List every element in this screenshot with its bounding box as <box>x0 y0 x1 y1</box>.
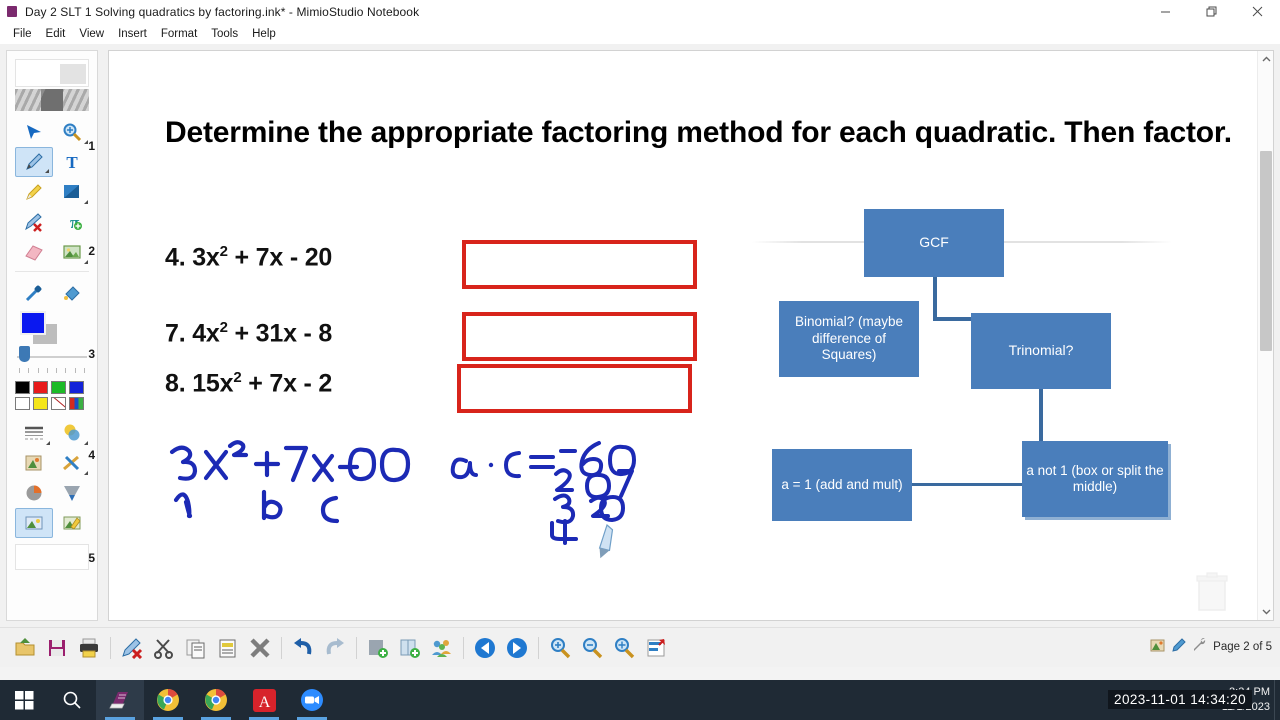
swatch-red[interactable] <box>33 381 48 394</box>
flowchart-node-a-equals-1[interactable]: a = 1 (add and mult) <box>772 449 912 521</box>
redo-arrow-icon[interactable] <box>320 632 350 664</box>
flow-line-gcf-down <box>933 277 937 319</box>
scroll-down-icon[interactable] <box>1258 603 1274 620</box>
annotate-image-tool[interactable] <box>53 508 91 538</box>
work-area: T <box>0 44 1280 627</box>
problem-8: 8. 15x2 + 7x - 2 <box>165 369 332 398</box>
paste-icon[interactable] <box>213 632 243 664</box>
scissors-icon[interactable] <box>149 632 179 664</box>
stroke-style-preview <box>15 89 89 111</box>
show-desktop-button[interactable] <box>1274 680 1280 720</box>
text-tool[interactable]: T <box>53 147 91 177</box>
pen-status-icon <box>1171 638 1186 656</box>
swatch-more-colors[interactable] <box>69 397 84 410</box>
swatch-green[interactable] <box>51 381 66 394</box>
color-palette <box>15 381 89 410</box>
window-title: Day 2 SLT 1 Solving quadratics by factor… <box>25 5 419 19</box>
bottom-toolbar <box>0 627 1280 667</box>
tool-annotation-2: 2 <box>88 244 95 258</box>
page-heading: Determine the appropriate factoring meth… <box>165 109 1235 156</box>
problem-8-number: 8. <box>165 369 185 397</box>
tool-grid: T <box>15 117 91 267</box>
notebook-icon <box>7 6 17 17</box>
flowchart-node-trinomial[interactable]: Trinomial? <box>971 313 1111 389</box>
menu-help[interactable]: Help <box>245 26 283 42</box>
shape-tool[interactable] <box>53 177 91 207</box>
page-indicator: Page 2 of 5 <box>1213 641 1272 653</box>
eyedropper-tool[interactable] <box>15 278 53 308</box>
transparency-tool[interactable] <box>53 418 91 448</box>
problem-7-expr-b: + 31x - 8 <box>228 319 332 347</box>
menu-file[interactable]: File <box>6 26 39 42</box>
problem-7-number: 7. <box>165 319 185 347</box>
printer-icon[interactable] <box>74 632 104 664</box>
floppy-icon[interactable] <box>42 632 72 664</box>
swatch-white[interactable] <box>15 397 30 410</box>
magnifier-plus-icon[interactable] <box>545 632 575 664</box>
magnifier-fit-icon[interactable] <box>609 632 639 664</box>
image-tool[interactable] <box>53 237 91 267</box>
problem-4: 4. 3x2 + 7x - 20 <box>165 243 332 272</box>
flowchart-node-a-not-1[interactable]: a not 1 (box or split the middle) <box>1022 441 1168 517</box>
tool-grid-2 <box>15 278 91 308</box>
pen-tool[interactable] <box>15 147 53 177</box>
menu-format[interactable]: Format <box>154 26 204 42</box>
problem-7-exponent: 2 <box>220 319 228 336</box>
minimize-icon[interactable] <box>1142 0 1188 23</box>
answer-box-8[interactable] <box>457 364 692 413</box>
menu-tools[interactable]: Tools <box>204 26 245 42</box>
menu-view[interactable]: View <box>72 26 111 42</box>
swatch-yellow[interactable] <box>33 397 48 410</box>
copy-icon[interactable] <box>181 632 211 664</box>
tool-panel: T <box>6 50 98 621</box>
x-delete-icon[interactable] <box>245 632 275 664</box>
window-controls <box>1142 0 1280 23</box>
taskbar: A 2:34 PM 11/1/2023 <box>0 680 1280 720</box>
page-preview <box>15 544 89 570</box>
problem-4-expr-b: + 7x - 20 <box>228 243 332 271</box>
timestamp-overlay: 2023-11-01 14:34:20 <box>1108 690 1252 709</box>
swatch-blue[interactable] <box>69 381 84 394</box>
problem-4-number: 4. <box>165 243 185 271</box>
problem-8-expr-b: + 7x - 2 <box>241 369 332 397</box>
problem-4-exponent: 2 <box>220 243 228 260</box>
thickness-ticks <box>15 368 89 375</box>
chrome-taskbar-item-2[interactable] <box>192 680 240 720</box>
tool-annotation-1: 1 <box>88 139 95 153</box>
tool-annotation-3: 3 <box>88 347 95 361</box>
title-bar: Day 2 SLT 1 Solving quadratics by factor… <box>0 0 1280 23</box>
add-page-icon[interactable] <box>363 632 393 664</box>
problem-4-expr-a: 3x <box>192 243 219 271</box>
problem-7-expr-a: 4x <box>192 319 219 347</box>
tool-annotation-5: 5 <box>88 551 95 565</box>
thickness-slider-knob[interactable] <box>19 346 30 362</box>
zoom-taskbar-item[interactable] <box>288 680 336 720</box>
forward-arrow-icon[interactable] <box>502 632 532 664</box>
gallery-thumb-icon <box>1150 638 1165 656</box>
problem-7: 7. 4x2 + 31x - 8 <box>165 319 332 348</box>
svg-text:T: T <box>66 153 78 172</box>
ink-product-work <box>447 433 677 543</box>
chrome-taskbar-item-1[interactable] <box>144 680 192 720</box>
start-button[interactable] <box>0 680 48 720</box>
ink-expression <box>164 436 424 531</box>
answer-box-4[interactable] <box>462 240 697 289</box>
clear-ink-icon[interactable] <box>117 632 147 664</box>
flowchart-node-gcf[interactable]: GCF <box>864 209 1004 277</box>
tool-annotation-4: 4 <box>88 448 95 462</box>
undo-arrow-icon[interactable] <box>288 632 318 664</box>
mimiostudio-taskbar-item[interactable] <box>96 680 144 720</box>
tools-tool[interactable] <box>53 448 91 478</box>
magnifier-minus-icon[interactable] <box>577 632 607 664</box>
line-style-tool[interactable] <box>15 418 53 448</box>
current-color-swatch[interactable] <box>15 308 51 338</box>
wrench-icon <box>1192 638 1207 656</box>
swatch-no-color[interactable] <box>51 397 66 410</box>
tool-grid-3 <box>15 418 91 538</box>
canvas-area[interactable]: Determine the appropriate factoring meth… <box>108 50 1274 621</box>
people-icon[interactable] <box>427 632 457 664</box>
mimiostudio-window: Day 2 SLT 1 Solving quadratics by factor… <box>0 0 1280 720</box>
back-arrow-icon[interactable] <box>470 632 500 664</box>
notebook-page[interactable]: Determine the appropriate factoring meth… <box>122 51 1252 620</box>
acrobat-taskbar-item[interactable]: A <box>240 680 288 720</box>
open-folder-icon[interactable] <box>10 632 40 664</box>
canvas-scrollbar[interactable] <box>1257 51 1273 620</box>
problem-8-expr-a: 15x <box>192 369 233 397</box>
flowchart-node-binomial[interactable]: Binomial? (maybe difference of Squares) <box>779 301 919 377</box>
scrollbar-thumb[interactable] <box>1260 151 1272 351</box>
insert-image-tool[interactable] <box>15 508 53 538</box>
zoom-tool[interactable] <box>53 117 91 147</box>
menu-bar: File Edit View Insert Format Tools Help <box>0 23 1280 44</box>
spotlight-tool[interactable] <box>53 478 91 508</box>
menu-edit[interactable]: Edit <box>39 26 73 42</box>
duplicate-page-icon[interactable] <box>395 632 425 664</box>
fill-tool[interactable] <box>53 278 91 308</box>
answer-box-7[interactable] <box>462 312 697 361</box>
select-arrow-tool[interactable] <box>15 117 53 147</box>
search-button[interactable] <box>48 680 96 720</box>
menu-insert[interactable]: Insert <box>111 26 154 42</box>
swatch-black[interactable] <box>15 381 30 394</box>
flow-line-bottom <box>908 483 1040 486</box>
eraser-tool[interactable] <box>15 237 53 267</box>
gallery-tool[interactable] <box>15 448 53 478</box>
status-bar: Page 2 of 5 <box>1150 634 1272 660</box>
thickness-slider[interactable] <box>15 342 89 368</box>
highlighter-tool[interactable] <box>15 177 53 207</box>
export-icon[interactable] <box>641 632 671 664</box>
screen-shade-tool[interactable] <box>15 478 53 508</box>
close-icon[interactable] <box>1234 0 1280 23</box>
scroll-up-icon[interactable] <box>1258 51 1274 68</box>
ink-eraser-tool[interactable] <box>15 207 53 237</box>
svg-text:A: A <box>258 694 270 711</box>
restore-icon[interactable] <box>1188 0 1234 23</box>
trash-icon[interactable] <box>1194 572 1230 612</box>
equation-pi-tool[interactable]: π <box>53 207 91 237</box>
stroke-preview <box>15 59 89 87</box>
